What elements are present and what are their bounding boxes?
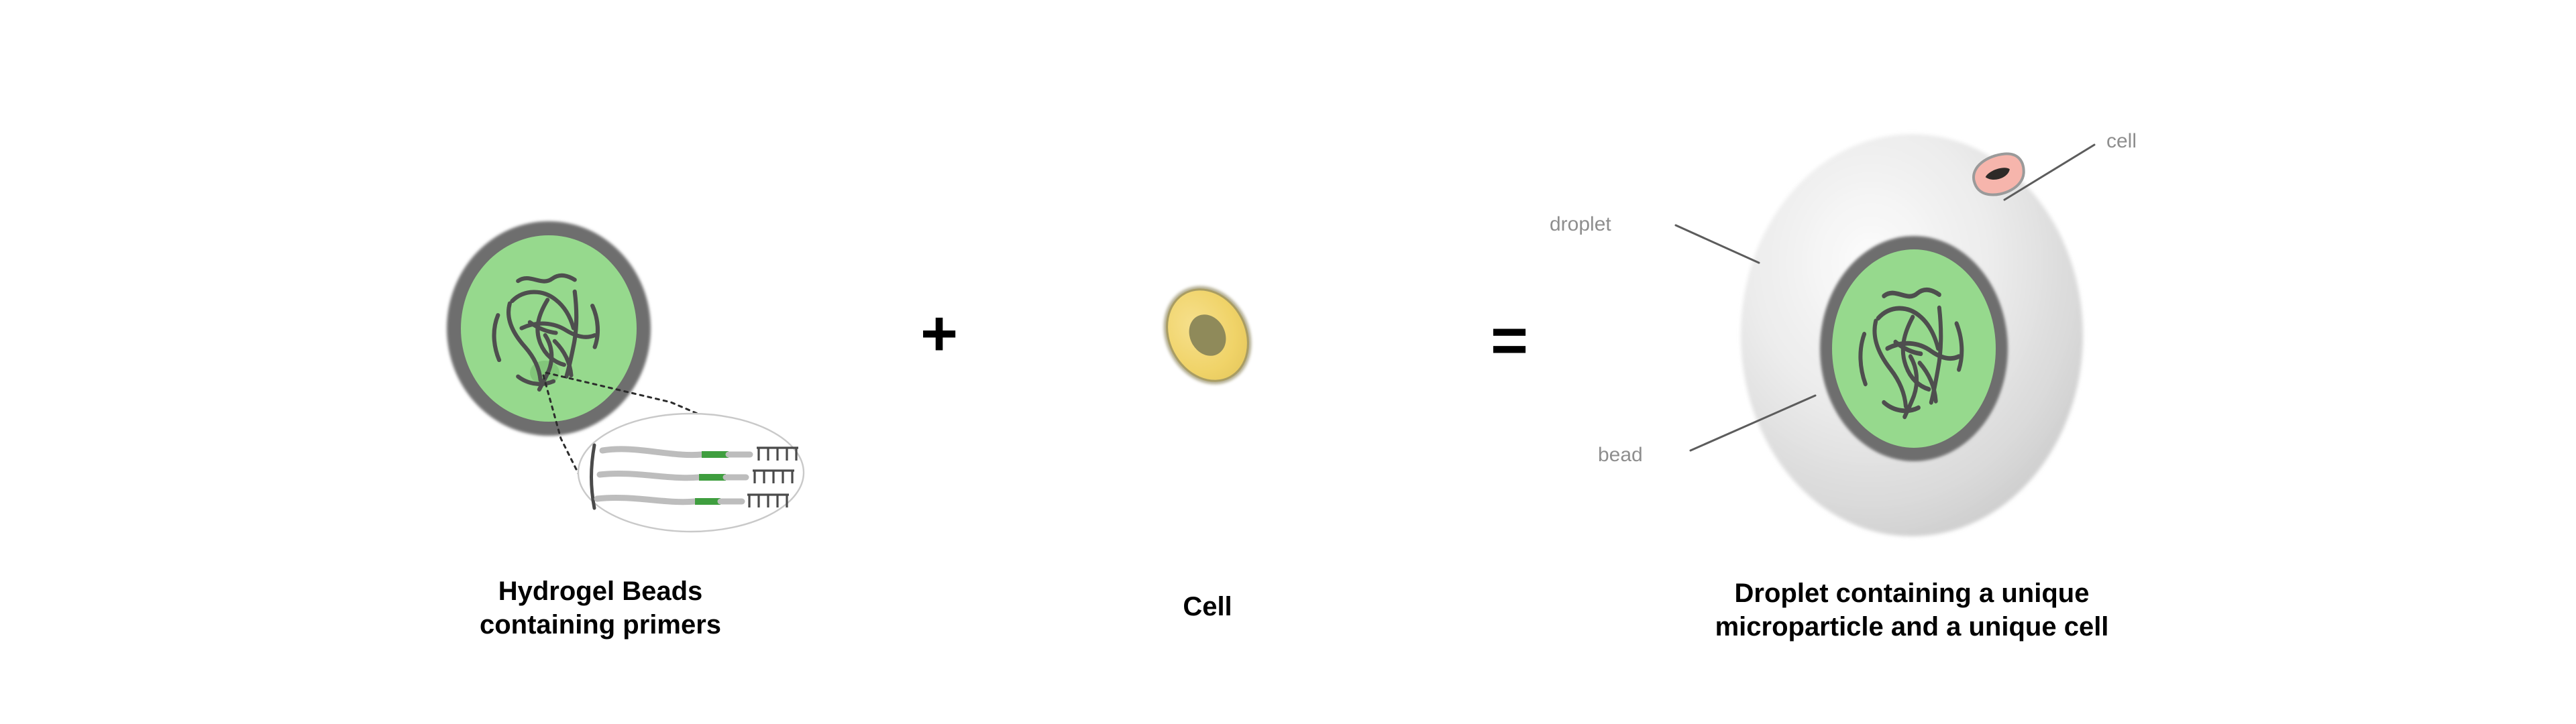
droplet-inner-bead <box>1820 236 2008 461</box>
plus-symbol: + <box>920 298 958 369</box>
caption-line-2: microparticle and a unique cell <box>1715 612 2109 642</box>
equals-operator: = <box>1491 304 1528 376</box>
droplet-label: droplet <box>1550 213 1611 235</box>
cell-label: cell <box>2106 130 2137 152</box>
caption-line-2: containing primers <box>480 610 721 640</box>
caption-line-1: Cell <box>1183 592 1232 621</box>
canvas-background <box>0 0 2576 724</box>
equals-symbol: = <box>1491 304 1528 376</box>
primer-inset <box>578 414 804 532</box>
encapsulation-diagram: Hydrogel Beads containing primers + Cell… <box>0 0 2576 724</box>
bead-gel-core <box>1832 249 1996 448</box>
caption-line-1: Hydrogel Beads <box>498 577 703 606</box>
caption-line-1: Droplet containing a unique <box>1735 579 2090 608</box>
bead-label: bead <box>1598 444 1643 466</box>
plus-operator: + <box>920 298 958 369</box>
hydrogel-bead <box>447 221 651 436</box>
